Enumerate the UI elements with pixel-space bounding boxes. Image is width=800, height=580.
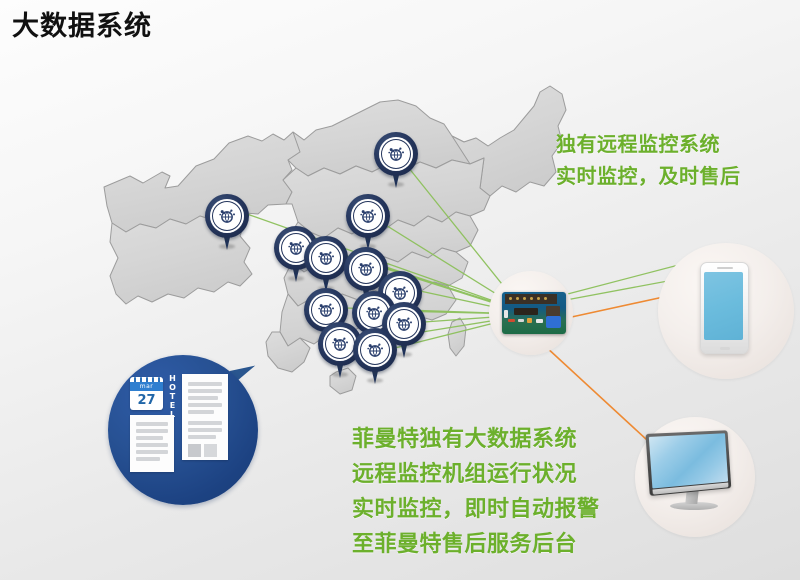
doc-text-line bbox=[188, 410, 214, 414]
desktop-monitor-icon[interactable] bbox=[648, 432, 742, 516]
callout-bottom-line-3: 实时监控，即时自动报警 bbox=[352, 492, 600, 527]
network-node-icon bbox=[351, 199, 385, 233]
network-node-icon bbox=[358, 333, 392, 367]
pcb-relay bbox=[546, 316, 561, 328]
monitor-screen bbox=[649, 433, 728, 488]
doc-text-line bbox=[136, 429, 168, 433]
doc-text-line bbox=[188, 389, 222, 393]
pcb-pin bbox=[544, 297, 547, 300]
data-report-bubble[interactable]: mar 27 H O T E L bbox=[108, 355, 258, 505]
smartphone-icon[interactable] bbox=[700, 262, 749, 354]
callout-right-line-2: 实时监控，及时售后 bbox=[556, 160, 741, 192]
pcb-resistor bbox=[518, 319, 524, 322]
pcb-component bbox=[536, 319, 543, 323]
network-node-icon bbox=[210, 199, 244, 233]
pcb-capacitor bbox=[508, 319, 515, 322]
doc-text-line bbox=[188, 403, 222, 407]
report-document-large bbox=[182, 374, 228, 460]
calendar-icon: mar 27 bbox=[130, 377, 163, 410]
hotel-char: T bbox=[167, 392, 178, 401]
calendar-day: 27 bbox=[130, 391, 163, 410]
doc-text-line bbox=[188, 396, 218, 400]
pcb-port bbox=[504, 310, 508, 318]
doc-text-line bbox=[188, 435, 216, 439]
hotel-char: E bbox=[167, 401, 178, 410]
network-node-icon bbox=[323, 327, 357, 361]
network-node-icon bbox=[379, 137, 413, 171]
pcb-led bbox=[527, 318, 532, 323]
pcb-pin bbox=[516, 297, 519, 300]
map-pin[interactable] bbox=[374, 132, 418, 188]
doc-text-line bbox=[136, 436, 163, 440]
network-node-icon bbox=[309, 241, 343, 275]
phone-speaker bbox=[717, 267, 733, 269]
doc-text-line bbox=[136, 457, 160, 461]
pcb-pin bbox=[530, 297, 533, 300]
hotel-char: O bbox=[167, 383, 178, 392]
pcb-chip bbox=[514, 308, 538, 315]
doc-text-line bbox=[136, 443, 168, 447]
doc-text-line bbox=[188, 382, 222, 386]
callout-bottom-line-2: 远程监控机组运行状况 bbox=[352, 457, 600, 492]
doc-text-line bbox=[188, 428, 222, 432]
circuit-board-icon[interactable] bbox=[502, 292, 566, 334]
monitor-frame bbox=[645, 430, 731, 496]
pcb-pin bbox=[523, 297, 526, 300]
infographic-canvas: 大数据系统 bbox=[0, 0, 800, 580]
report-document-small bbox=[130, 415, 174, 472]
hotel-vertical-label: H O T E L bbox=[167, 374, 178, 419]
hotel-char: H bbox=[167, 374, 178, 383]
doc-text-line bbox=[136, 422, 168, 426]
map-pin[interactable] bbox=[205, 194, 249, 250]
doc-text-line bbox=[136, 450, 168, 454]
map-pin[interactable] bbox=[346, 194, 390, 250]
map-pin[interactable] bbox=[304, 236, 348, 292]
phone-home-button bbox=[720, 347, 730, 350]
callout-bottom-line-1: 菲曼特独有大数据系统 bbox=[352, 422, 600, 457]
doc-chart-block bbox=[188, 444, 201, 457]
callout-big-data-system: 菲曼特独有大数据系统 远程监控机组运行状况 实时监控，即时自动报警 至菲曼特售后… bbox=[352, 422, 600, 562]
doc-text-line bbox=[188, 421, 222, 425]
pcb-pin bbox=[509, 297, 512, 300]
calendar-month: mar bbox=[130, 382, 163, 391]
callout-remote-monitoring: 独有远程监控系统 实时监控，及时售后 bbox=[556, 128, 741, 192]
pcb-pin bbox=[537, 297, 540, 300]
callout-right-line-1: 独有远程监控系统 bbox=[556, 128, 741, 160]
doc-chart-block bbox=[204, 444, 217, 457]
map-pin[interactable] bbox=[353, 328, 397, 384]
phone-screen bbox=[704, 272, 743, 340]
callout-bottom-line-4: 至菲曼特售后服务后台 bbox=[352, 527, 600, 562]
